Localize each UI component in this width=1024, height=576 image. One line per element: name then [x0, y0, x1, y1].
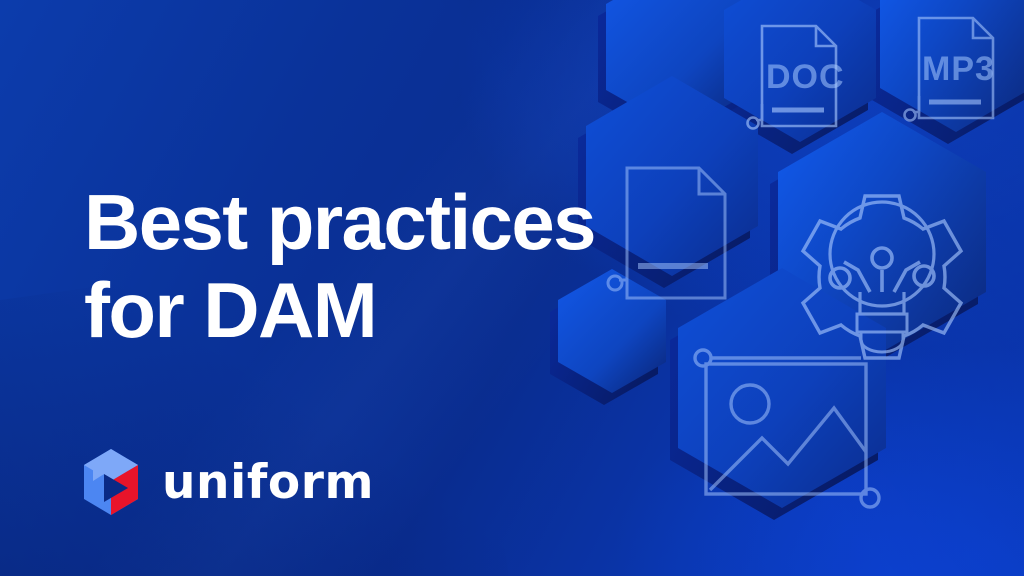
uniform-wordmark: uniform [162, 459, 374, 506]
title-card-canvas: DOC MP3 Best practices for DAM uniform [0, 0, 1024, 576]
page-title: Best practices for DAM [84, 178, 744, 354]
uniform-logo[interactable]: uniform [80, 448, 374, 516]
uniform-cube-hexagon-logo-icon [80, 448, 142, 516]
